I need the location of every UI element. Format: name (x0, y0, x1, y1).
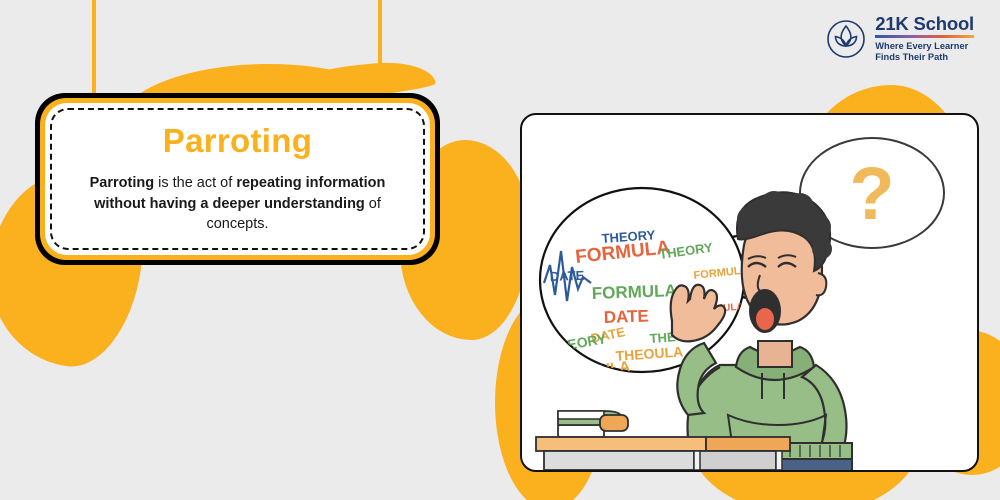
brand-tagline: Where Every Learner Finds Their Path (875, 41, 974, 64)
hanging-string-right (378, 0, 382, 98)
lotus-in-circle-icon (826, 19, 866, 59)
hanging-string-left (92, 0, 96, 106)
card-description-text-1: is the act of (154, 175, 236, 191)
brand-logo[interactable]: 21K School Where Every Learner Finds The… (826, 15, 974, 64)
card-description: Parroting is the act of repeating inform… (74, 173, 401, 235)
desk-top-right (706, 437, 790, 451)
tongue (756, 308, 774, 330)
brand-tagline-line1: Where Every Learner (875, 41, 974, 53)
brand-logo-text: 21K School Where Every Learner Finds The… (875, 15, 974, 64)
book-white (558, 425, 604, 437)
speech-word-cloud: THEORYFORMULATHEORYDATEFORMULAFORMULA?FO… (540, 188, 749, 392)
brand-name: 21K School (875, 15, 974, 34)
book-orange (600, 415, 628, 431)
student-parroting-illustration: ? THEORYFORMULATHEORYDATEFORMULAFORMULA?… (522, 115, 977, 470)
thought-bubble-question-mark: ? (849, 152, 894, 235)
brand-tagline-line2: Finds Their Path (875, 52, 974, 64)
word-cloud-word: DATE (550, 268, 585, 284)
infographic-canvas: Parroting Parroting is the act of repeat… (0, 0, 1000, 500)
word-cloud-word: FORMULA (591, 281, 677, 303)
card-yellow-ring: Parroting Parroting is the act of repeat… (40, 98, 435, 260)
desk-top-left (536, 437, 706, 451)
card-dashed-border: Parroting Parroting is the act of repeat… (50, 108, 425, 250)
desk-panel-right (698, 451, 776, 470)
word-cloud-word: DATE (603, 306, 649, 327)
word-cloud-word: ? (660, 370, 672, 392)
illustration-card: ? THEORYFORMULATHEORYDATEFORMULAFORMULA?… (520, 113, 979, 472)
card-inner-white: Parroting Parroting is the act of repeat… (45, 103, 430, 255)
card-description-bold-term: Parroting (90, 175, 154, 191)
desk-panel-left (544, 451, 694, 470)
brand-gradient-underline (875, 35, 974, 38)
definition-card: Parroting Parroting is the act of repeat… (35, 93, 440, 265)
page-title: Parroting (163, 124, 312, 157)
